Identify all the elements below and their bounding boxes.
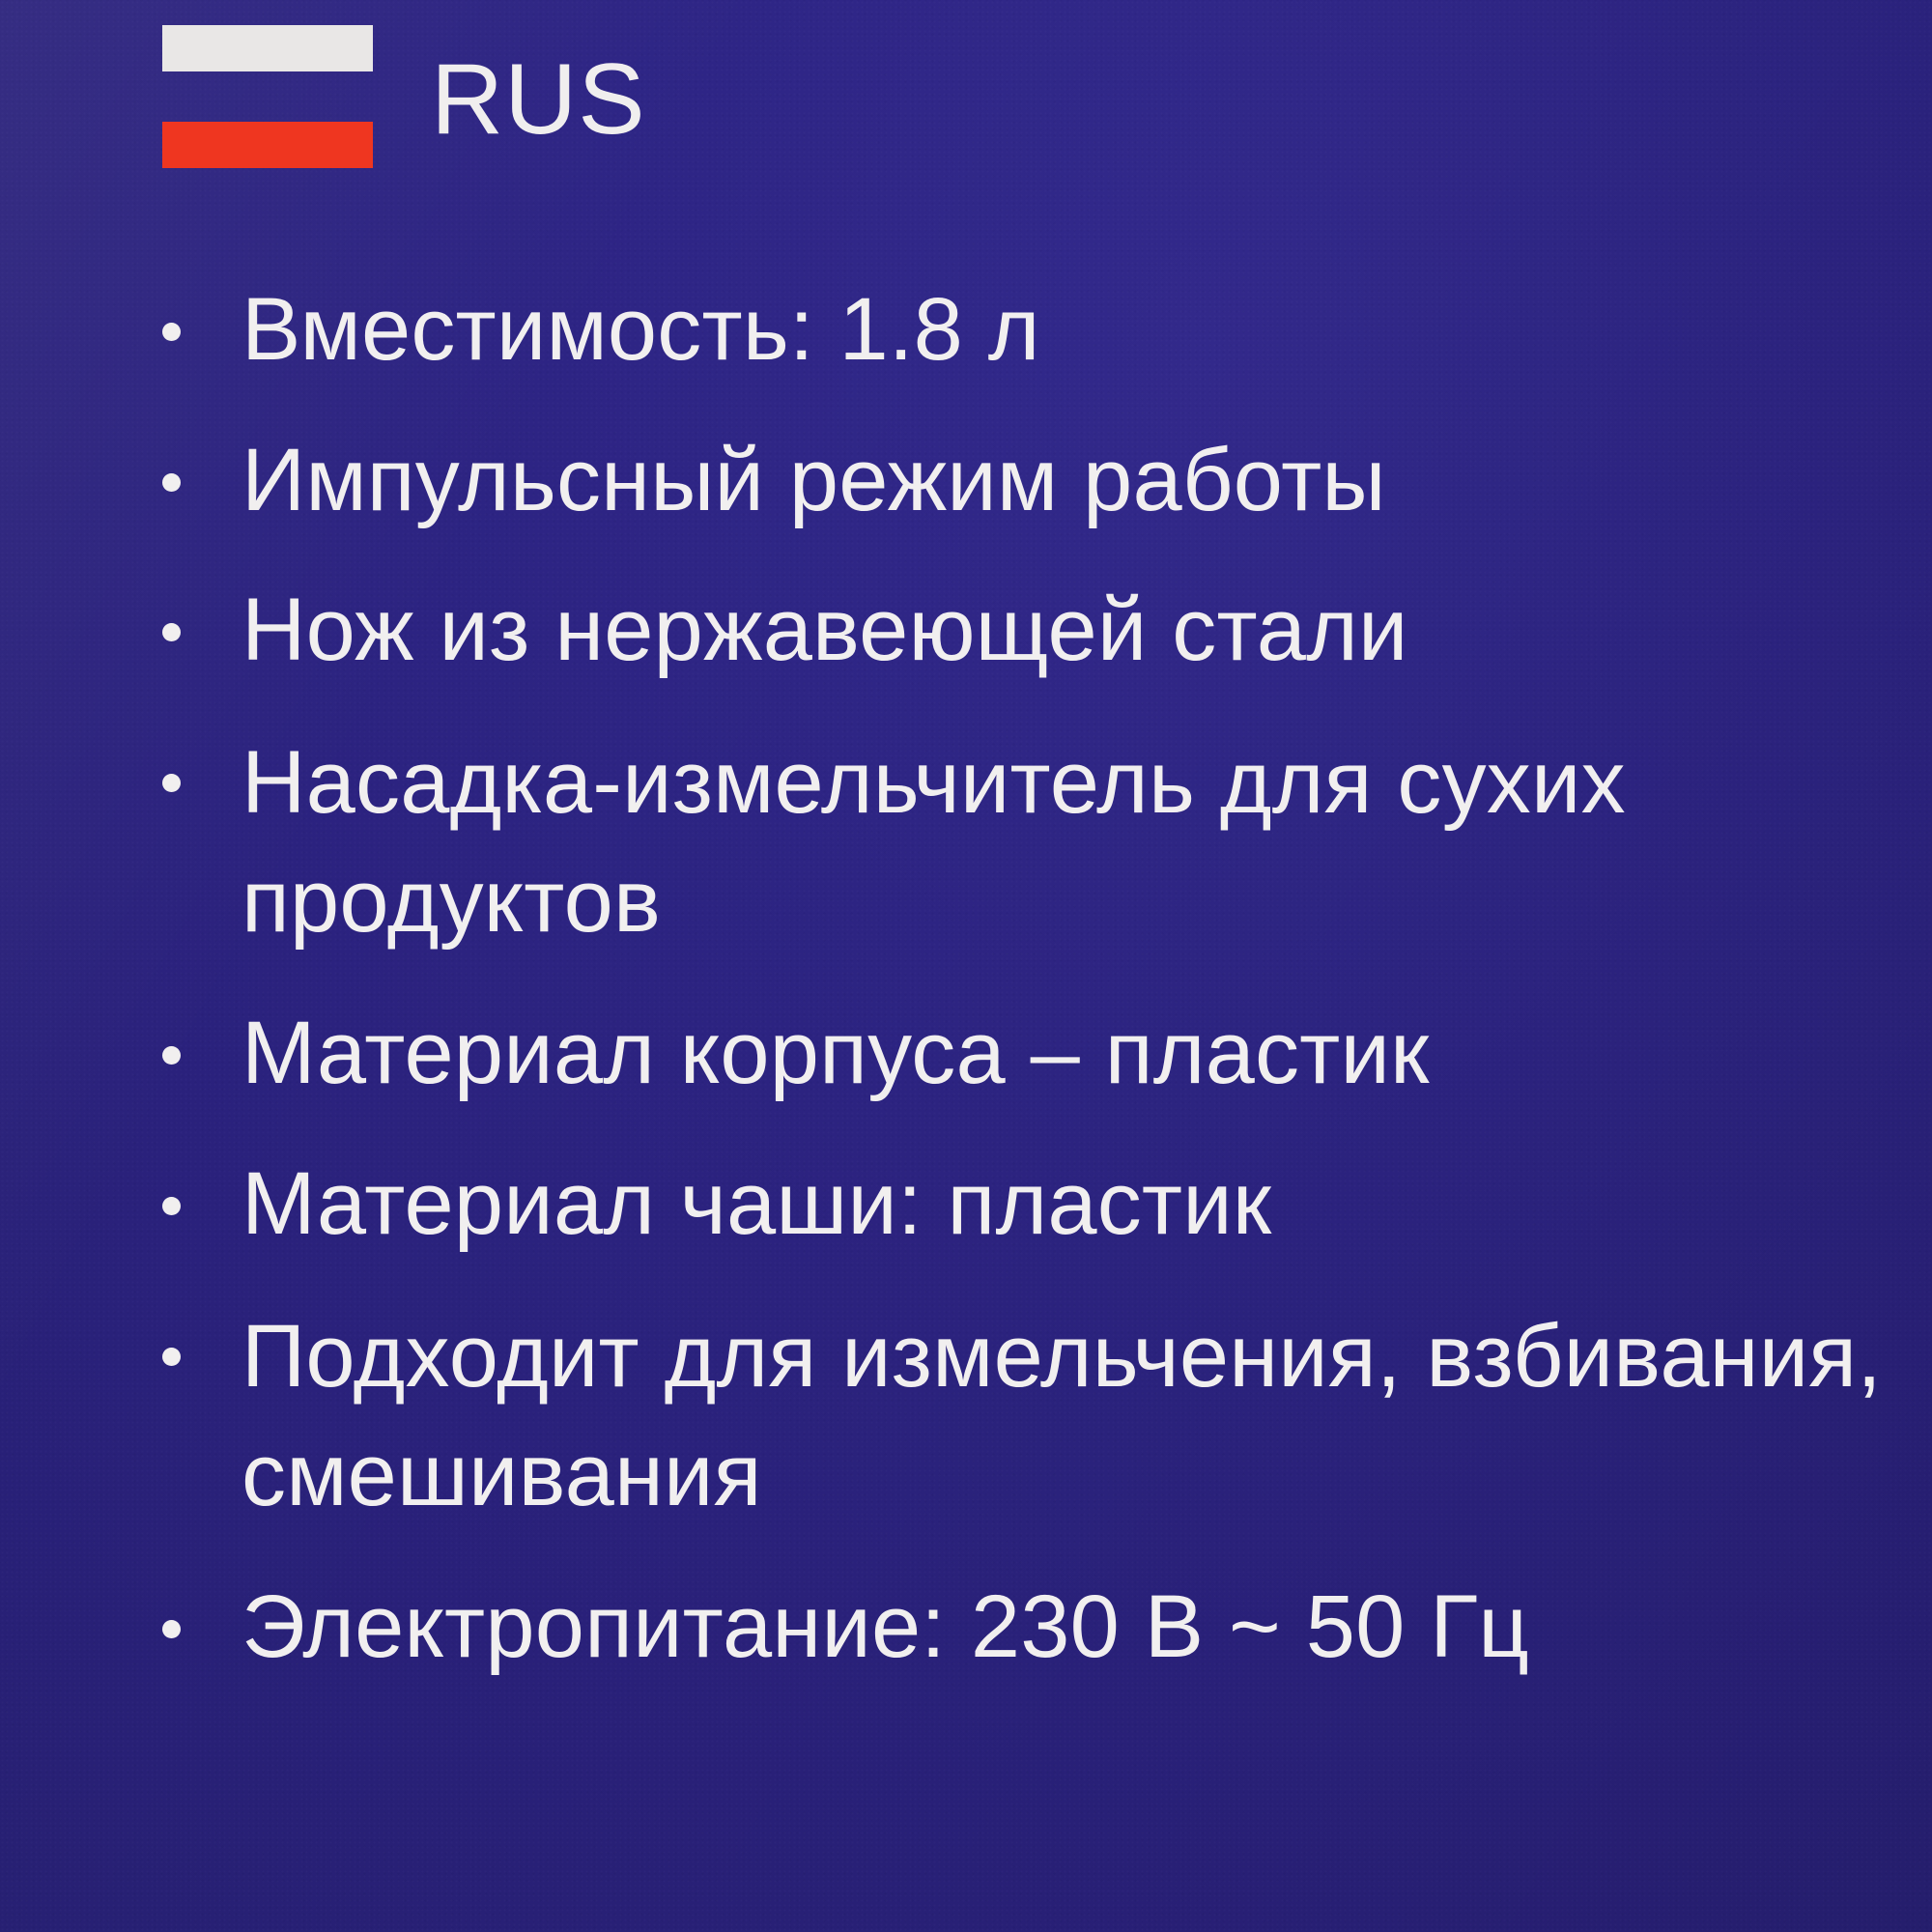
product-spec-panel: RUS Вместимость: 1.8 л Импульсный режим … — [0, 0, 1932, 1932]
spec-item-text: Импульсный режим работы — [241, 431, 1386, 529]
spec-item-text: Подходит для измельчения, взбивания, сме… — [241, 1307, 1882, 1524]
flag-stripe-red — [162, 122, 373, 168]
bullet-point-icon — [162, 1620, 181, 1638]
bullet-point-icon — [162, 323, 181, 341]
spec-list-item: Нож из нержавеющей стали — [145, 573, 1893, 689]
flag-stripe-white — [162, 25, 373, 71]
specification-list: Вместимость: 1.8 л Импульсный режим рабо… — [145, 272, 1893, 1686]
bullet-point-icon — [162, 473, 181, 492]
bullet-point-icon — [162, 1197, 181, 1215]
spec-item-text: Материал корпуса – пластик — [241, 1004, 1430, 1102]
bullet-point-icon — [162, 774, 181, 792]
spec-list-item: Вместимость: 1.8 л — [145, 272, 1893, 388]
spec-list-item: Материал корпуса – пластик — [145, 996, 1893, 1112]
language-header: RUS — [162, 25, 646, 168]
spec-list-item: Электропитание: 230 В ~ 50 Гц — [145, 1570, 1893, 1686]
bullet-point-icon — [162, 623, 181, 641]
spec-item-text: Материал чаши: пластик — [241, 1154, 1271, 1253]
russian-flag-icon — [162, 25, 373, 168]
spec-item-text: Электропитание: 230 В ~ 50 Гц — [241, 1577, 1529, 1676]
spec-item-text: Вместимость: 1.8 л — [241, 280, 1040, 379]
bullet-point-icon — [162, 1348, 181, 1366]
spec-list-item: Импульсный режим работы — [145, 423, 1893, 539]
spec-list-item: Материал чаши: пластик — [145, 1147, 1893, 1263]
spec-list-item: Насадка-измельчитель для сухих продуктов — [145, 724, 1893, 962]
spec-list-item: Подходит для измельчения, взбивания, сме… — [145, 1297, 1893, 1536]
bullet-point-icon — [162, 1046, 181, 1065]
language-code-label: RUS — [431, 49, 646, 150]
flag-stripe-blue — [162, 73, 373, 120]
spec-item-text: Насадка-измельчитель для сухих продуктов — [241, 733, 1626, 951]
spec-item-text: Нож из нержавеющей стали — [241, 581, 1408, 679]
